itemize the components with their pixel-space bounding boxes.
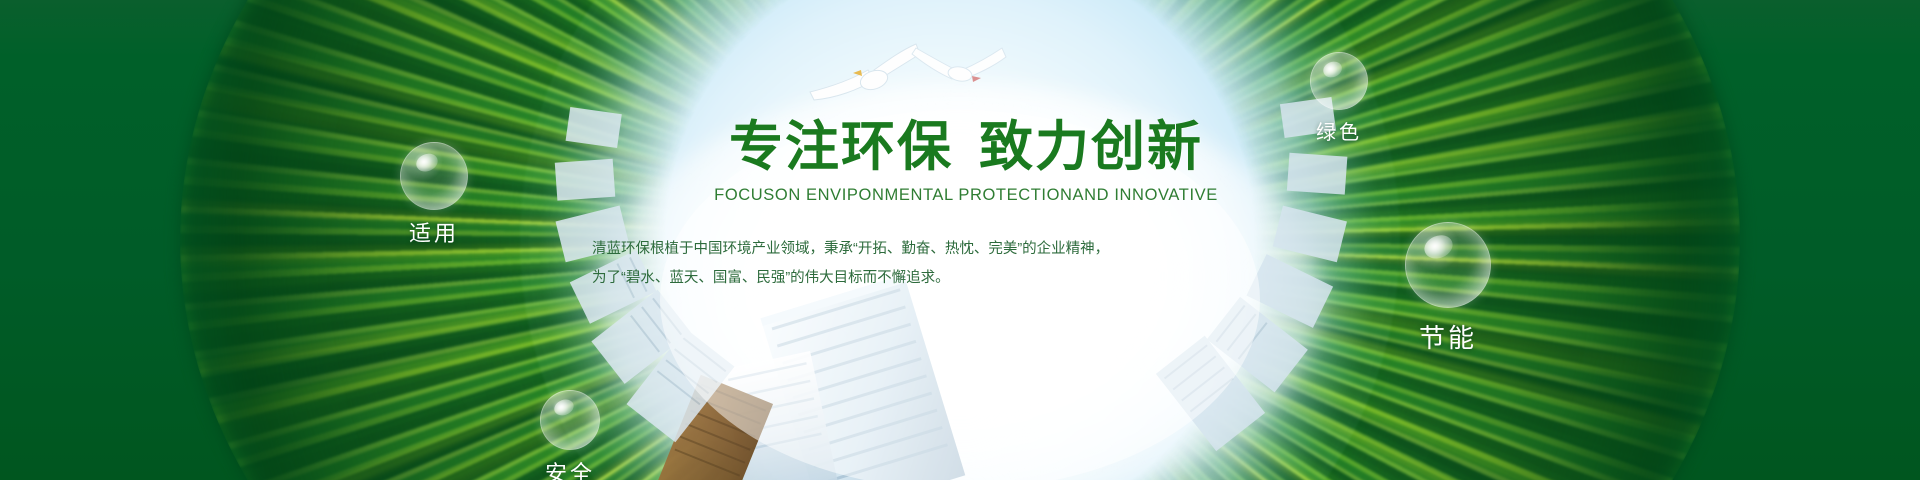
banner-description: 清蓝环保根植于中国环境产业领域，秉承“开拓、勤奋、热忱、完美”的企业精神， 为了… <box>586 235 1346 293</box>
description-line-1: 清蓝环保根植于中国环境产业领域，秉承“开拓、勤奋、热忱、完美”的企业精神， <box>592 235 1346 264</box>
banner-text-block: 专注环保致力创新 FOCUSON ENVIPONMENTAL PROTECTIO… <box>586 118 1346 293</box>
eco-hero-banner: 适用 安全 绿色 节能 专注环保致力创新 FOCUSON ENVIPONMENT… <box>0 0 1920 480</box>
description-line-2: 为了“碧水、蓝天、国富、民强”的伟大目标而不懈追求。 <box>592 264 1346 293</box>
bubble-icon <box>540 390 600 450</box>
page-title: 专注环保致力创新 <box>586 118 1346 176</box>
feature-bubble-label: 节能 <box>1405 318 1491 355</box>
feature-bubble-label: 安全 <box>540 456 600 480</box>
bubble-icon <box>400 142 468 210</box>
feature-bubble-anquan[interactable]: 安全 <box>540 390 600 480</box>
bubble-icon <box>1310 52 1368 110</box>
headline-part-2: 致力创新 <box>979 117 1203 177</box>
feature-bubble-shiyong[interactable]: 适用 <box>400 142 468 248</box>
seagull-right-icon <box>910 32 1014 92</box>
headline-part-1: 专注环保 <box>729 117 953 177</box>
bubble-icon <box>1405 222 1491 308</box>
feature-bubble-label: 适用 <box>400 216 468 248</box>
feature-bubble-jieneng[interactable]: 节能 <box>1405 222 1491 355</box>
page-subtitle: FOCUSON ENVIPONMENTAL PROTECTIONAND INNO… <box>586 186 1346 205</box>
